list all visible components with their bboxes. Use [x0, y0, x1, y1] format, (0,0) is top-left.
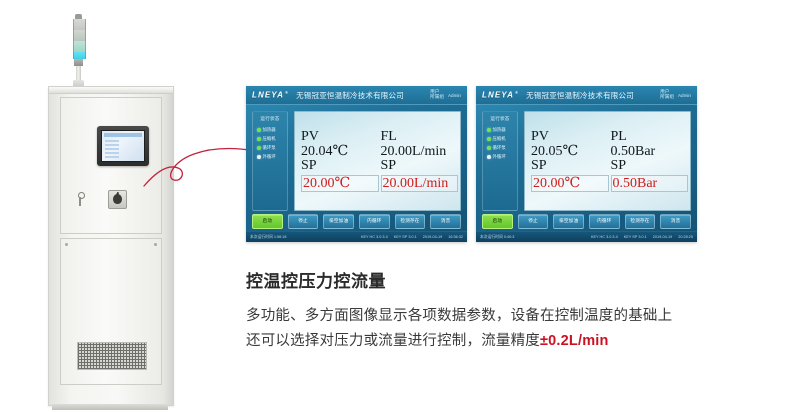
- status-label: 外循环: [263, 154, 276, 160]
- runtime-text: 本次运行时间 0:40:3: [480, 235, 514, 240]
- tower-light-segment-2: [73, 30, 86, 41]
- key-hc-version: KEY HC 3.0.3.4: [361, 235, 388, 239]
- panel-status-bar: 本次运行时间 1:56:18 KEY HC 3.0.3.4 KEY SP 3.0…: [246, 231, 467, 242]
- stop-button[interactable]: 停止: [288, 214, 319, 229]
- panel-button-row: 启动 停止 排空加油 内循环 检测存在 消音: [476, 211, 697, 231]
- lneya-logo: LNEYA®: [252, 90, 289, 100]
- panel-screw: [65, 243, 68, 246]
- detect-button[interactable]: 检测存在: [395, 214, 426, 229]
- sp-value: 0.50Bar: [613, 176, 687, 191]
- sp-label: SP: [531, 159, 609, 174]
- status-item-compressor: 压缩机: [255, 136, 276, 142]
- drain-fill-button[interactable]: 排空加油: [323, 214, 354, 229]
- company-name: 无锡冠亚恒温制冷技术有限公司: [526, 90, 634, 101]
- user-info: 用户 所属组 Admin: [660, 90, 691, 100]
- user-name: Admin: [448, 93, 461, 98]
- internal-loop-button[interactable]: 内循环: [359, 214, 390, 229]
- panel-body: 运行状态 加热器 压缩机 循环泵 外循环: [246, 105, 467, 211]
- status-label: 循环泵: [493, 145, 506, 151]
- logo-trademark: ®: [515, 90, 519, 95]
- sp-label: SP: [381, 159, 459, 174]
- readout-column-flow: FL 20.00L/min SP 20.00L/min: [381, 116, 459, 206]
- status-item-pump: 循环泵: [255, 145, 276, 151]
- status-label: 外循环: [493, 154, 506, 160]
- status-time: 20:28:25: [678, 235, 693, 239]
- tower-light-segment-3: [73, 41, 86, 52]
- status-led-icon: [257, 128, 261, 132]
- status-led-icon: [487, 128, 491, 132]
- hmi-screenshot-group: LNEYA® 无锡冠亚恒温制冷技术有限公司 用户 所属组 Admin 运行状态 …: [246, 86, 698, 242]
- sp-value: 20.00℃: [533, 176, 607, 191]
- sp-value: 20.00℃: [303, 176, 377, 191]
- readout-column-temperature: PV 20.04℃ SP 20.00℃: [301, 116, 379, 206]
- readout-area: PV 20.05℃ SP 20.00℃ PL 0.50Bar SP 0.50Ba…: [524, 111, 691, 211]
- pv-value: 20.04℃: [301, 144, 379, 159]
- panel-header: LNEYA® 无锡冠亚恒温制冷技术有限公司 用户 所属组 Admin: [246, 86, 467, 105]
- group-label: 所属组: [430, 95, 444, 100]
- status-date: 2019-04-19: [423, 235, 442, 239]
- status-item-external-loop: 外循环: [255, 154, 276, 160]
- rotary-switch: [108, 190, 127, 209]
- cabinet-hmi-screen: [101, 130, 145, 162]
- sp-value-field[interactable]: 0.50Bar: [611, 175, 689, 192]
- tower-light-segment-1: [73, 19, 86, 30]
- logo-text: LNEYA: [482, 91, 514, 100]
- pl-label: PL: [611, 130, 689, 145]
- status-led-icon: [257, 146, 261, 150]
- runtime-text: 本次运行时间 1:56:18: [250, 235, 287, 240]
- detect-button[interactable]: 检测存在: [625, 214, 656, 229]
- user-name: Admin: [678, 93, 691, 98]
- status-led-icon: [257, 137, 261, 141]
- status-label: 压缩机: [493, 136, 506, 142]
- cabinet-top-edge: [49, 87, 173, 94]
- sp-label: SP: [611, 159, 689, 174]
- readout-column-temperature: PV 20.05℃ SP 20.00℃: [531, 116, 609, 206]
- start-button[interactable]: 启动: [252, 214, 283, 229]
- status-item-pump: 循环泵: [485, 145, 506, 151]
- chiller-cabinet-photo: [46, 14, 186, 406]
- copy-line-2: 还可以选择对压力或流量进行控制，流量精度±0.2L/min: [246, 329, 766, 354]
- logo-text: LNEYA: [252, 91, 284, 100]
- tower-light-segment-4: [73, 52, 86, 59]
- page-root: LNEYA® 无锡冠亚恒温制冷技术有限公司 用户 所属组 Admin 运行状态 …: [0, 0, 800, 412]
- marketing-copy: 控温控压力控流量 多功能、多方面图像显示各项数据参数，设备在控制温度的基础上 还…: [246, 272, 766, 354]
- tower-stack-light-icon: [72, 14, 85, 78]
- hmi-panel-temperature-pressure: LNEYA® 无锡冠亚恒温制冷技术有限公司 用户 所属组 Admin 运行状态 …: [476, 86, 697, 242]
- sp-label: SP: [301, 159, 379, 174]
- rotary-switch-knob: [113, 194, 122, 204]
- pv-label: PV: [531, 130, 609, 145]
- ventilation-grille: [77, 342, 147, 370]
- copy-heading: 控温控压力控流量: [246, 272, 766, 292]
- status-item-heater: 加热器: [485, 127, 506, 133]
- start-button[interactable]: 启动: [482, 214, 513, 229]
- fl-value: 20.00L/min: [381, 144, 459, 159]
- status-item-external-loop: 外循环: [485, 154, 506, 160]
- sp-value-field[interactable]: 20.00℃: [301, 175, 379, 192]
- panel-screw: [154, 243, 157, 246]
- readout-column-pressure: PL 0.50Bar SP 0.50Bar: [611, 116, 689, 206]
- status-item-heater: 加热器: [255, 127, 276, 133]
- mute-button[interactable]: 消音: [660, 214, 691, 229]
- copy-line-2-text: 还可以选择对压力或流量进行控制，流量精度: [246, 333, 540, 349]
- user-info: 用户 所属组 Admin: [430, 90, 461, 100]
- company-name: 无锡冠亚恒温制冷技术有限公司: [296, 90, 404, 101]
- running-status-column: 运行状态 加热器 压缩机 循环泵 外循环: [252, 111, 288, 211]
- internal-loop-button[interactable]: 内循环: [589, 214, 620, 229]
- key-sp-version: KEY SP 3.0.1: [394, 235, 417, 239]
- mute-button[interactable]: 消音: [430, 214, 461, 229]
- group-label: 所属组: [660, 95, 674, 100]
- cabinet-base-plinth: [52, 404, 168, 410]
- fl-label: FL: [381, 130, 459, 145]
- status-label: 加热器: [493, 127, 506, 133]
- status-label: 循环泵: [263, 145, 276, 151]
- status-led-icon: [487, 137, 491, 141]
- panel-button-row: 启动 停止 排空加油 内循环 检测存在 消音: [246, 211, 467, 231]
- panel-header: LNEYA® 无锡冠亚恒温制冷技术有限公司 用户 所属组 Admin: [476, 86, 697, 105]
- sp-value-field[interactable]: 20.00℃: [531, 175, 609, 192]
- tower-light-base: [74, 59, 83, 66]
- readout-area: PV 20.04℃ SP 20.00℃ FL 20.00L/min SP 20.…: [294, 111, 461, 211]
- pl-value: 0.50Bar: [611, 144, 689, 159]
- panel-body: 运行状态 加热器 压缩机 循环泵 外循环: [476, 105, 697, 211]
- sp-value-field[interactable]: 20.00L/min: [381, 175, 459, 192]
- lneya-logo: LNEYA®: [482, 90, 519, 100]
- door-key-lock-icon: [77, 192, 84, 206]
- running-status-column: 运行状态 加热器 压缩机 循环泵 外循环: [482, 111, 518, 211]
- status-led-icon: [487, 146, 491, 150]
- status-led-icon: [257, 155, 261, 159]
- pv-label: PV: [301, 130, 379, 145]
- stop-button[interactable]: 停止: [518, 214, 549, 229]
- cabinet-lower-door: [60, 238, 162, 385]
- status-date: 2019-04-19: [653, 235, 672, 239]
- drain-fill-button[interactable]: 排空加油: [553, 214, 584, 229]
- panel-status-bar: 本次运行时间 0:40:3 KEY HC 3.0.3.4 KEY SP 3.0.…: [476, 231, 697, 242]
- running-status-title: 运行状态: [260, 116, 279, 122]
- copy-line-1: 多功能、多方面图像显示各项数据参数，设备在控制温度的基础上: [246, 304, 766, 329]
- key-sp-version: KEY SP 3.0.1: [624, 235, 647, 239]
- key-hc-version: KEY HC 3.0.3.4: [591, 235, 618, 239]
- status-item-compressor: 压缩机: [485, 136, 506, 142]
- flow-accuracy-accent: ±0.2L/min: [540, 333, 609, 349]
- sp-value: 20.00L/min: [383, 176, 457, 191]
- status-time: 16:36:32: [448, 235, 463, 239]
- status-label: 加热器: [263, 127, 276, 133]
- logo-trademark: ®: [285, 90, 289, 95]
- status-label: 压缩机: [263, 136, 276, 142]
- running-status-title: 运行状态: [490, 116, 509, 122]
- status-led-icon: [487, 155, 491, 159]
- red-callout-line: [142, 128, 262, 190]
- hmi-panel-temperature-flow: LNEYA® 无锡冠亚恒温制冷技术有限公司 用户 所属组 Admin 运行状态 …: [246, 86, 467, 242]
- pv-value: 20.05℃: [531, 144, 609, 159]
